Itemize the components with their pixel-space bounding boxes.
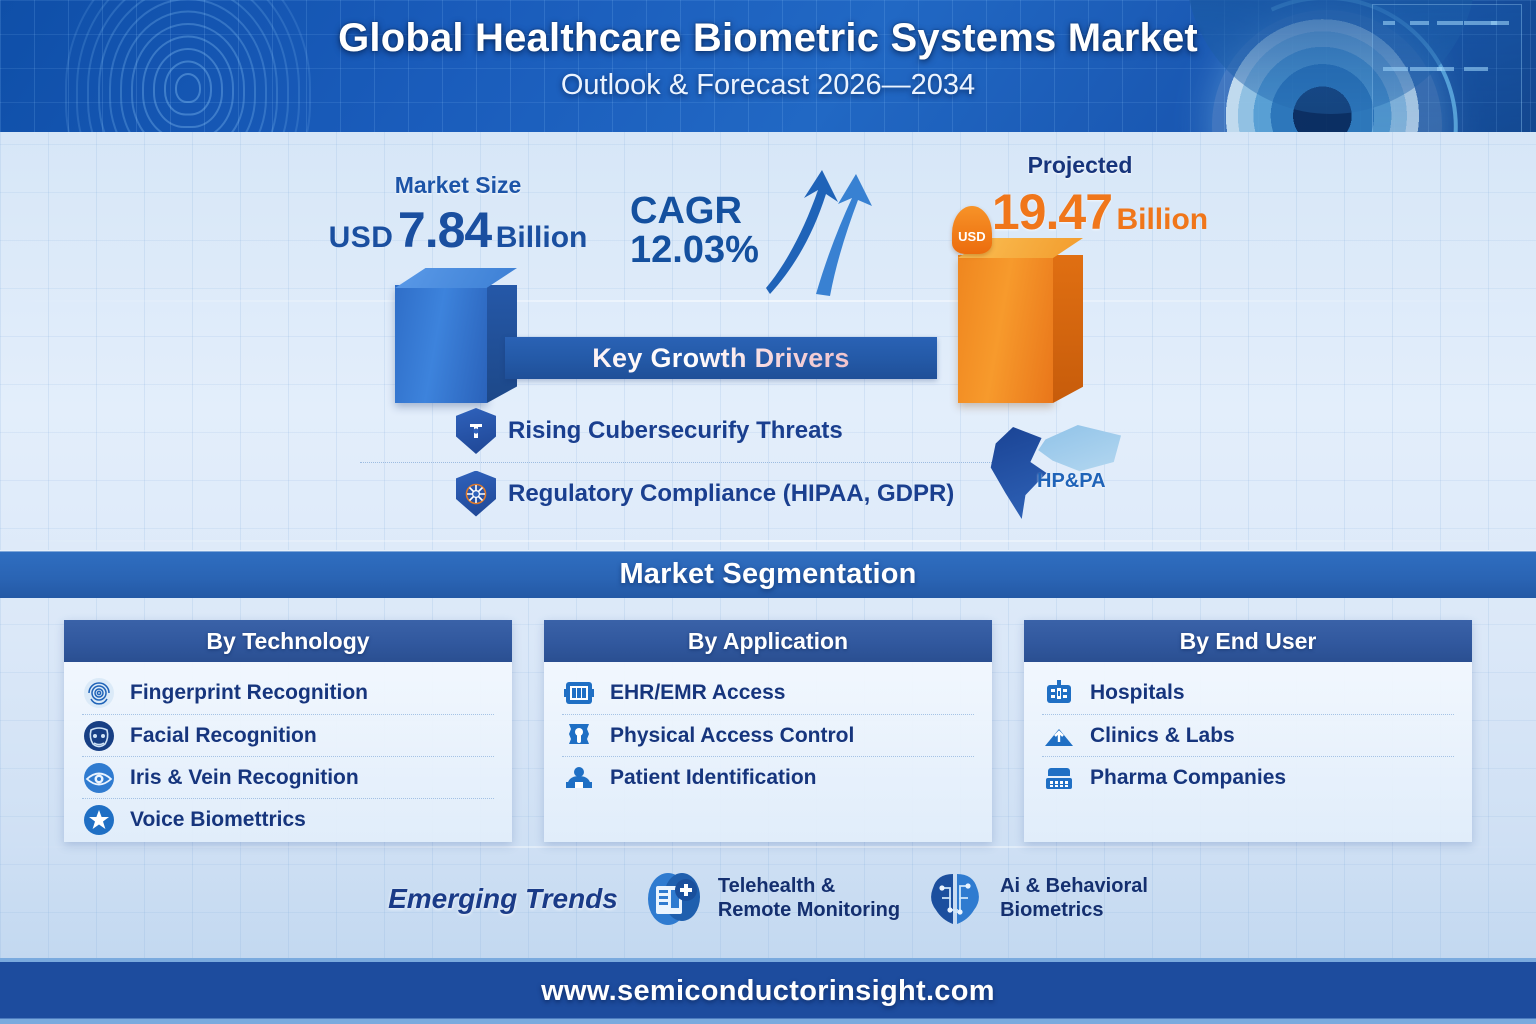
records-icon [562, 677, 596, 709]
segmentation-card-header: By Application [544, 620, 992, 662]
trend-label: Telehealth &Remote Monitoring [718, 875, 900, 922]
segmentation-card-title: By Application [688, 628, 848, 655]
kpi-cagr-label: CAGR [630, 192, 860, 230]
ai-brain-icon [922, 866, 988, 932]
growth-driver-label: Regulatory Compliance (HIPAA, GDPR) [452, 480, 954, 508]
market-segmentation-band: Market Segmentation [0, 550, 1536, 598]
key-growth-drivers-band: Key Growth Drivers [505, 337, 937, 379]
kpi-market-size-currency: USD [329, 221, 394, 254]
list-item[interactable]: Pharma Companies [1042, 756, 1454, 798]
segmentation-card-header: By End User [1024, 620, 1472, 662]
list-item[interactable]: Physical Access Control [562, 714, 974, 756]
kpi-projected-unit: Billion [1116, 203, 1208, 236]
clinic-lab-icon [1042, 720, 1076, 752]
bar-2026 [395, 268, 525, 403]
iris-scan-icon [82, 762, 116, 794]
patient-id-icon [562, 762, 596, 794]
list-item-label: Hospitals [1090, 681, 1185, 705]
segmentation-card-header: By Technology [64, 620, 512, 662]
kpi-projected-value: 19.47 [992, 184, 1112, 240]
list-item-label: Facial Recognition [130, 724, 317, 748]
trend-label: Ai & BehavioralBiometrics [1000, 875, 1148, 922]
list-item-label: Pharma Companies [1090, 766, 1286, 790]
trend-item-telehealth[interactable]: Telehealth &Remote Monitoring [640, 866, 900, 932]
compliance-globe-badge: HP&PA [985, 425, 1125, 520]
door-lock-icon [562, 720, 596, 752]
growth-drivers-list: Rising Cubersecurify Threats Regulatory … [360, 400, 1020, 524]
page-subtitle: Outlook & Forecast 2026—2034 [0, 69, 1536, 102]
list-item[interactable]: Iris & Vein Recognition [82, 756, 494, 798]
shield-lock-icon [456, 408, 496, 454]
emerging-trends-label: Emerging Trends [388, 883, 618, 915]
market-segmentation-title: Market Segmentation [619, 558, 916, 591]
segmentation-card-title: By Technology [206, 628, 369, 655]
key-growth-drivers-title: Key Growth Drivers [592, 343, 849, 374]
segmentation-card-end-user: By End User Hospitals [1024, 620, 1472, 842]
fingerprint-icon [82, 677, 116, 709]
shield-compliance-icon [456, 471, 496, 517]
list-item[interactable]: Fingerprint Recognition [82, 672, 494, 714]
scanline-decor [0, 540, 1536, 542]
segmentation-card-application: By Application EHR/EMR Access [544, 620, 992, 842]
list-item-label: Clinics & Labs [1090, 724, 1235, 748]
list-item[interactable]: Hospitals [1042, 672, 1454, 714]
list-item-label: EHR/EMR Access [610, 681, 785, 705]
face-scan-icon [82, 720, 116, 752]
infographic-poster: Global Healthcare Biometric Systems Mark… [0, 0, 1536, 1024]
telehealth-icon [640, 866, 706, 932]
usd-tag-icon: USD [952, 206, 992, 254]
list-item[interactable]: Facial Recognition [82, 714, 494, 756]
list-item-label: Physical Access Control [610, 724, 854, 748]
kpi-market-size-label: Market Size [278, 172, 638, 199]
growth-driver-row: Regulatory Compliance (HIPAA, GDPR) [360, 462, 1020, 524]
kpi-projected-label: Projected [880, 152, 1280, 179]
page-title: Global Healthcare Biometric Systems Mark… [0, 16, 1536, 61]
list-item[interactable]: Voice Biomettrics [82, 798, 494, 840]
hospital-icon [1042, 677, 1076, 709]
segmentation-card-title: By End User [1180, 628, 1317, 655]
segmentation-cards: By Technology Fingerpri [0, 620, 1536, 842]
kpi-market-size-value: 7.84 [398, 202, 491, 258]
scanline-decor [0, 300, 1536, 302]
compliance-badge-acronym: HP&PA [1037, 470, 1106, 493]
kpi-row: Market Size USD 7.84 Billion CAGR 12.03%… [0, 150, 1536, 280]
kpi-projected: Projected USD19.47 Billion [880, 152, 1280, 254]
kpi-cagr: CAGR 12.03% [630, 192, 860, 272]
segmentation-card-technology: By Technology Fingerpri [64, 620, 512, 842]
growth-driver-label: Rising Cubersecurify Threats [452, 417, 843, 445]
list-item-label: Fingerprint Recognition [130, 681, 368, 705]
list-item[interactable]: Patient Identification [562, 756, 974, 798]
kpi-market-size: Market Size USD 7.84 Billion [278, 172, 638, 259]
kpi-market-size-unit: Billion [496, 221, 588, 254]
header-banner: Global Healthcare Biometric Systems Mark… [0, 0, 1536, 132]
emerging-trends-row: Emerging Trends Telehealth &Remote Monit… [0, 856, 1536, 942]
pharma-icon [1042, 762, 1076, 794]
voice-wave-icon [82, 804, 116, 836]
list-item[interactable]: EHR/EMR Access [562, 672, 974, 714]
footer-bar: www.semiconductorinsight.com [0, 958, 1536, 1024]
list-item-label: Voice Biomettrics [130, 808, 306, 832]
footer-website-url[interactable]: www.semiconductorinsight.com [541, 975, 995, 1008]
growth-driver-row: Rising Cubersecurify Threats [360, 400, 1020, 462]
list-item-label: Patient Identification [610, 766, 817, 790]
kpi-cagr-value: 12.03% [630, 230, 860, 272]
list-item-label: Iris & Vein Recognition [130, 766, 359, 790]
trend-item-ai[interactable]: Ai & BehavioralBiometrics [922, 866, 1148, 932]
list-item[interactable]: Clinics & Labs [1042, 714, 1454, 756]
